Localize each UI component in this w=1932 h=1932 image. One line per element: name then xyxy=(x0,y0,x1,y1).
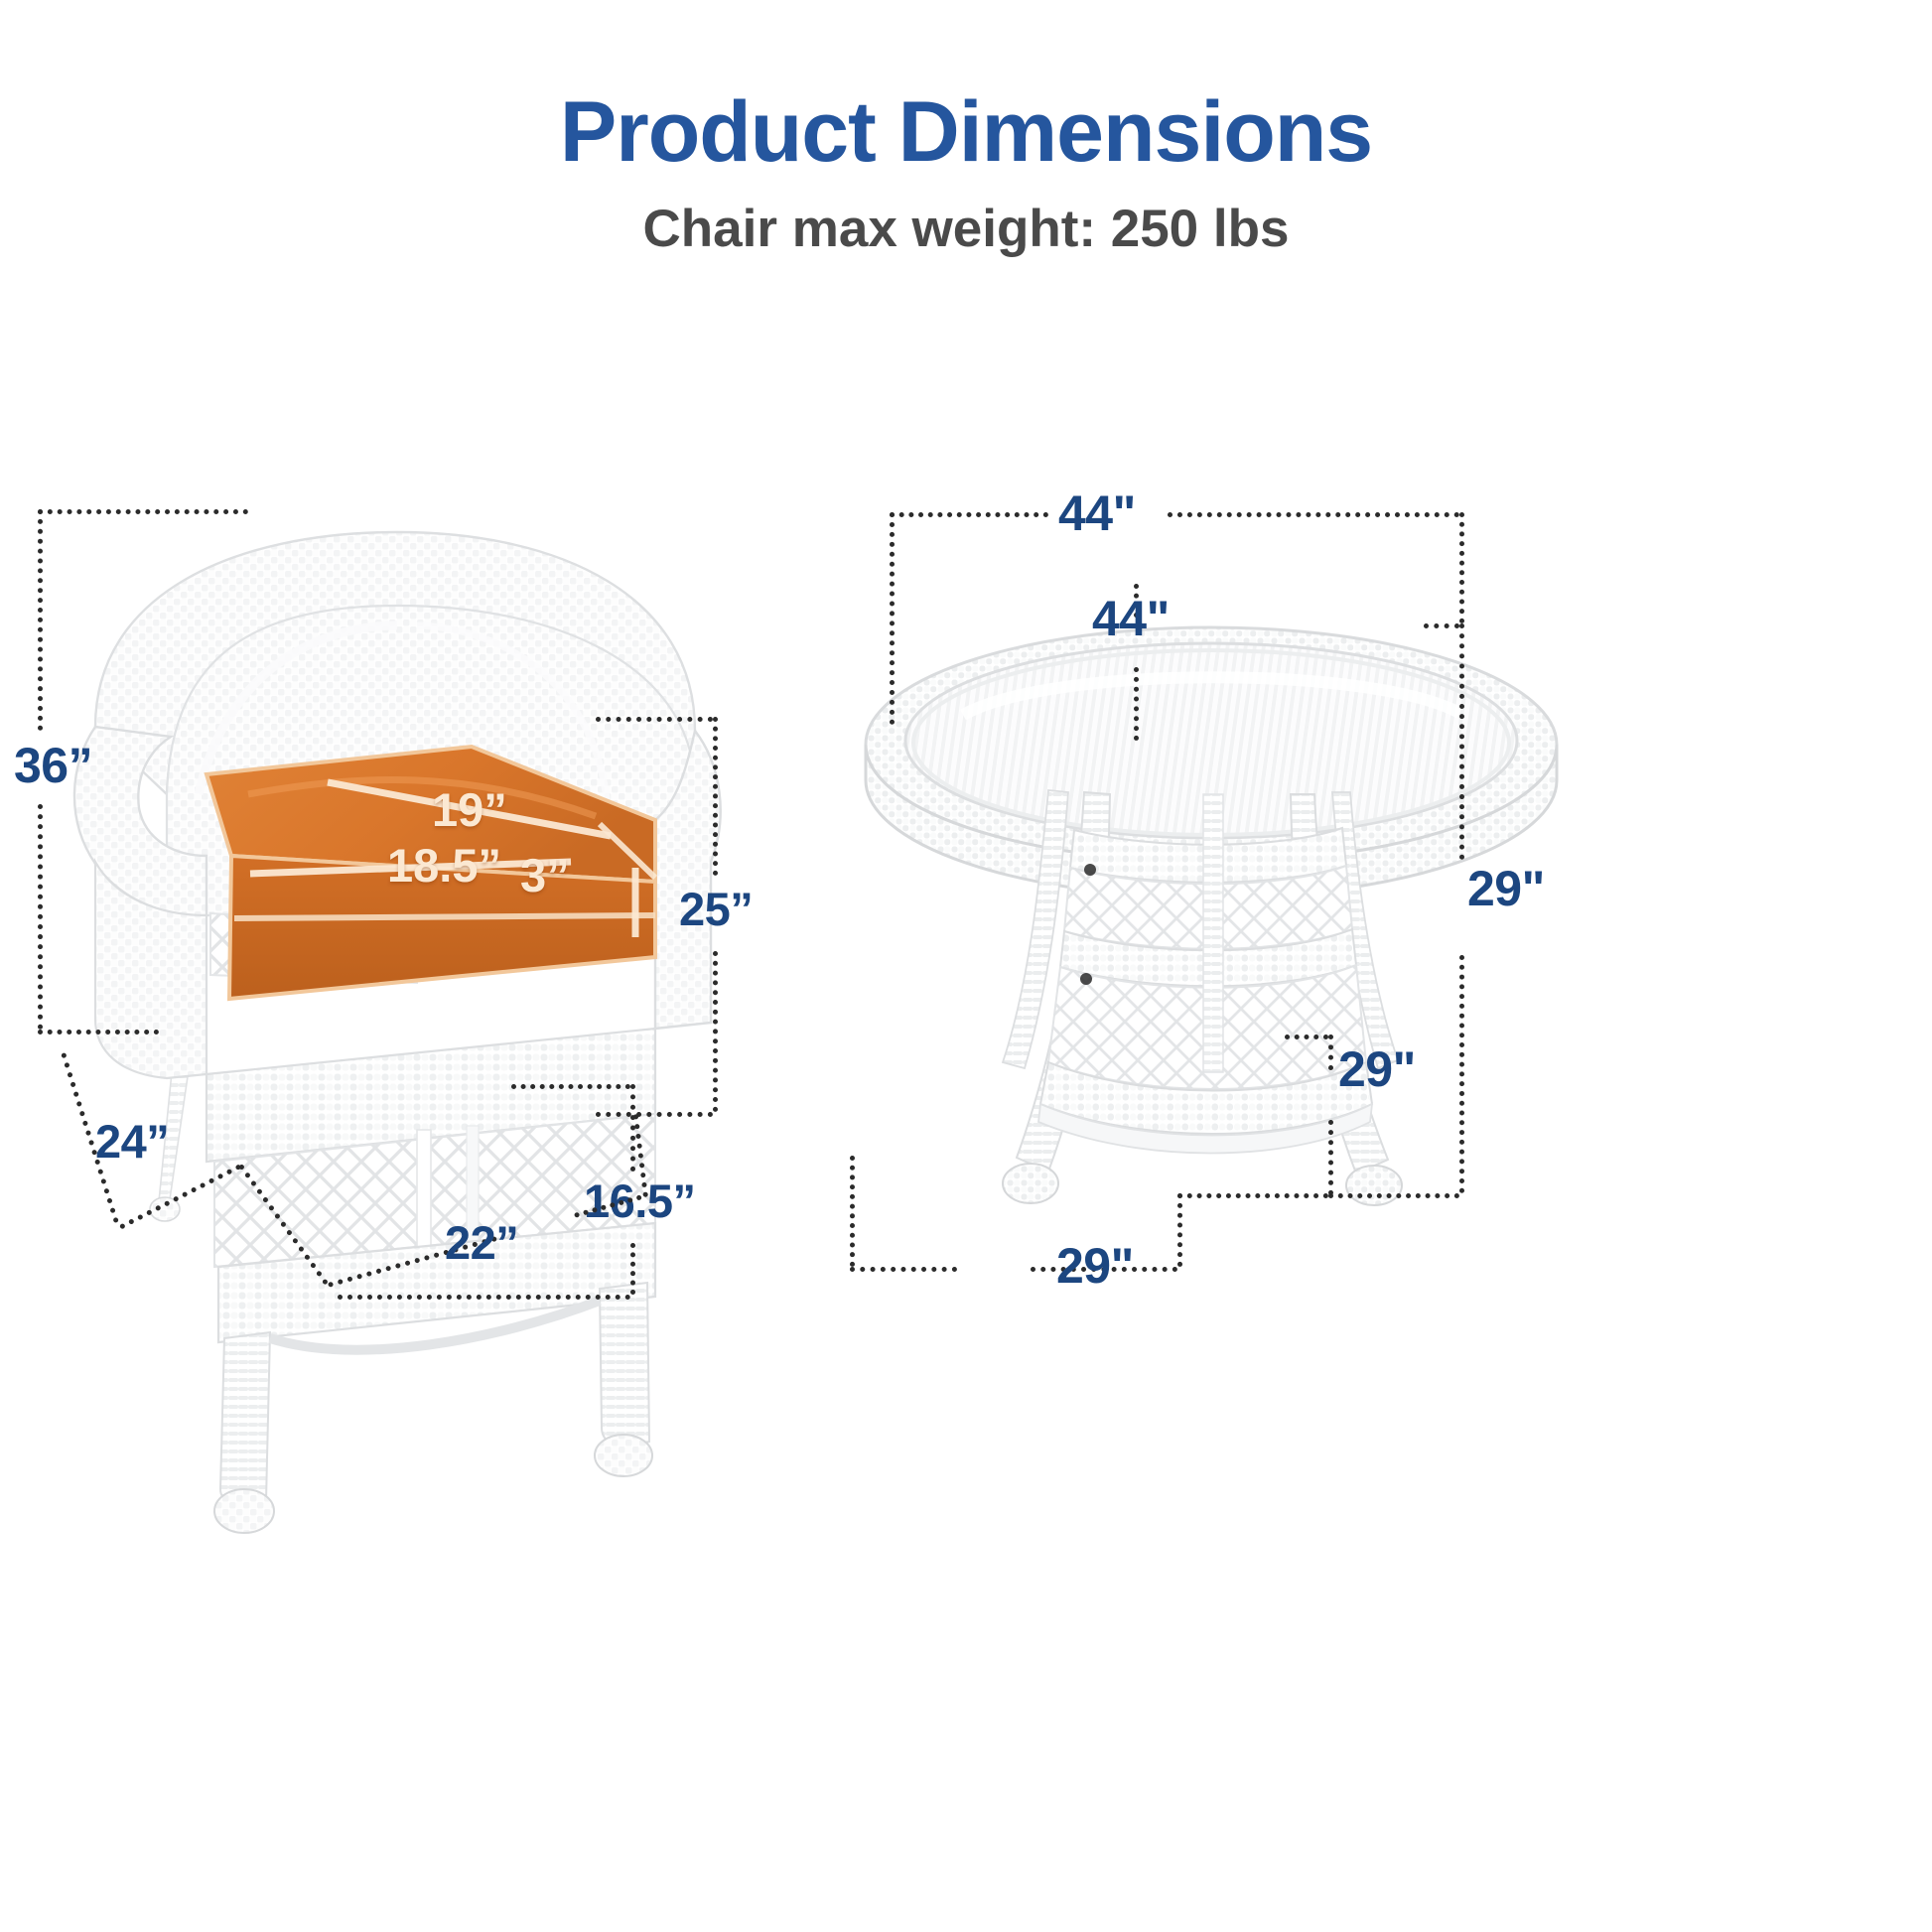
table-illustration-group xyxy=(854,596,1569,1449)
cushion-front-width-label: 18.5” xyxy=(387,842,501,889)
table-foot-front-right xyxy=(1346,1166,1402,1205)
cushion-back-width-label: 19” xyxy=(432,786,507,833)
cushion-thickness-label: 3” xyxy=(520,852,570,898)
table-drawing xyxy=(854,596,1569,1449)
chair-front-left-foot xyxy=(214,1489,274,1533)
header: Product Dimensions Chair max weight: 250… xyxy=(0,87,1932,259)
table-width-guide-top-right xyxy=(1168,512,1459,517)
chair-height-label: 36” xyxy=(14,741,92,790)
table-bolt-upper xyxy=(1084,864,1096,876)
chair-front-right-foot xyxy=(595,1435,652,1476)
chair-seat-height-label: 16.5” xyxy=(584,1177,695,1224)
table-height-label: 29" xyxy=(1467,864,1545,913)
chair-illustration-group: 19” 18.5” 3” xyxy=(0,467,953,1618)
chair-body xyxy=(74,532,721,1533)
page-subtitle: Chair max weight: 250 lbs xyxy=(0,199,1932,259)
table-center-post xyxy=(1203,794,1223,1072)
table-inner-diameter-label: 44" xyxy=(1092,594,1170,643)
chair-front-left-leg xyxy=(220,1332,270,1505)
chair-back-height-label: 25” xyxy=(679,886,753,932)
chair-depth-label: 24” xyxy=(95,1118,169,1165)
page-title: Product Dimensions xyxy=(0,87,1932,177)
table-leg-height-label: 29" xyxy=(1338,1044,1416,1094)
chair-width-label: 22” xyxy=(445,1219,518,1266)
table-bolt-lower xyxy=(1080,973,1092,985)
table-base-width-label: 29" xyxy=(1056,1241,1134,1291)
product-dimensions-diagram: Product Dimensions Chair max weight: 250… xyxy=(0,0,1932,1932)
chair-drawing xyxy=(0,467,953,1618)
chair-front-right-leg xyxy=(600,1283,649,1448)
table-body xyxy=(866,627,1557,1205)
table-top-diameter-label: 44" xyxy=(1058,488,1136,538)
table-foot-front-left xyxy=(1003,1164,1058,1203)
